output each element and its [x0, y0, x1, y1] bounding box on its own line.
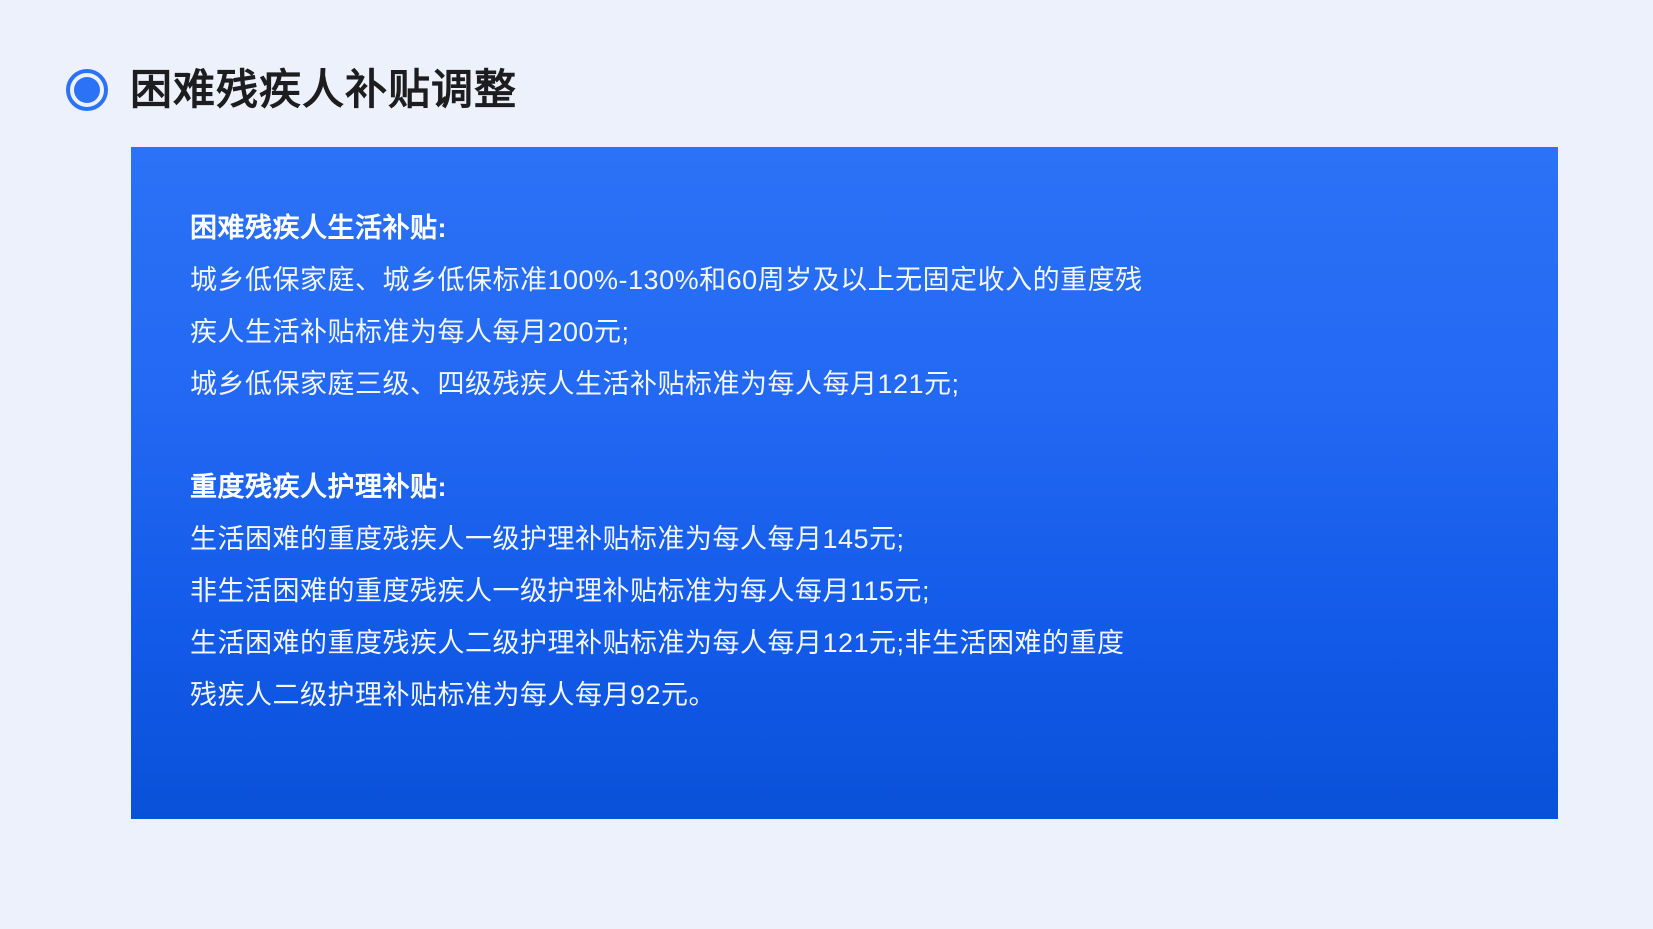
section-line: 生活困难的重度残疾人二级护理补贴标准为每人每月121元;非生活困难的重度 [190, 617, 1518, 669]
card-body: 困难残疾人生活补贴: 城乡低保家庭、城乡低保标准100%-130%和60周岁及以… [190, 202, 1518, 721]
bullet-dot-icon [74, 77, 100, 103]
slide-header: 困难残疾人补贴调整 [66, 60, 517, 120]
section-heading: 重度残疾人护理补贴: [190, 461, 1518, 513]
section-line: 疾人生活补贴标准为每人每月200元; [190, 306, 1518, 358]
decorative-watermark [108, 500, 132, 650]
section-nursing-subsidy: 重度残疾人护理补贴: 生活困难的重度残疾人一级护理补贴标准为每人每月145元; … [190, 461, 1518, 721]
section-line: 残疾人二级护理补贴标准为每人每月92元。 [190, 669, 1518, 721]
page-title: 困难残疾人补贴调整 [130, 67, 517, 113]
section-line: 城乡低保家庭、城乡低保标准100%-130%和60周岁及以上无固定收入的重度残 [190, 254, 1518, 306]
filled-circle-bullet-icon [66, 69, 108, 111]
section-living-subsidy: 困难残疾人生活补贴: 城乡低保家庭、城乡低保标准100%-130%和60周岁及以… [190, 202, 1518, 410]
section-line: 生活困难的重度残疾人一级护理补贴标准为每人每月145元; [190, 513, 1518, 565]
section-line: 城乡低保家庭三级、四级残疾人生活补贴标准为每人每月121元; [190, 358, 1518, 410]
section-heading: 困难残疾人生活补贴: [190, 202, 1518, 254]
subsidy-content-card: 困难残疾人生活补贴: 城乡低保家庭、城乡低保标准100%-130%和60周岁及以… [131, 147, 1558, 819]
section-line: 非生活困难的重度残疾人一级护理补贴标准为每人每月115元; [190, 565, 1518, 617]
